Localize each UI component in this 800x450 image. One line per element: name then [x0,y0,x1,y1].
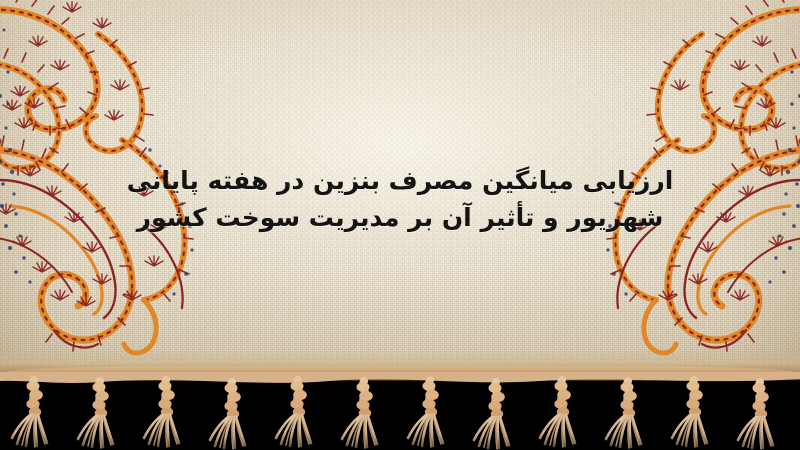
tassel-fringe [0,372,800,450]
headline: ارزیابی میانگین مصرف بنزین در هفته پایان… [0,162,800,236]
title-card: ارزیابی میانگین مصرف بنزین در هفته پایان… [0,0,800,450]
headline-line-2: شهریور و تأثیر آن بر مدیریت سوخت کشور [0,199,800,236]
headline-line-1: ارزیابی میانگین مصرف بنزین در هفته پایان… [0,162,800,199]
